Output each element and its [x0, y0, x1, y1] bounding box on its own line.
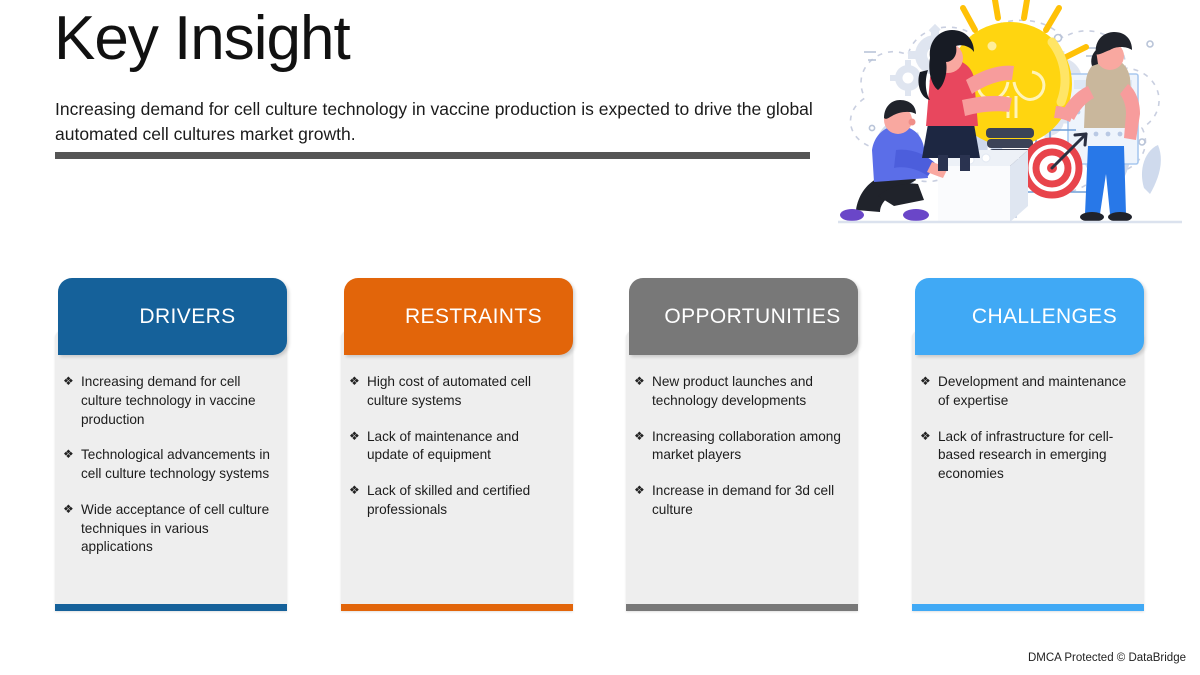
card-list-challenges: ❖Development and maintenance of expertis…	[912, 373, 1144, 501]
card-restraints[interactable]: RESTRAINTS ❖High cost of automated cell …	[341, 278, 573, 611]
card-accent-bar-drivers	[55, 604, 287, 611]
diamond-bullet-icon: ❖	[634, 373, 645, 390]
diamond-bullet-icon: ❖	[63, 373, 74, 390]
list-item: ❖Lack of skilled and certified professio…	[349, 482, 563, 520]
list-item-text: Lack of skilled and certified profession…	[367, 483, 530, 517]
list-item-text: Wide acceptance of cell culture techniqu…	[81, 502, 269, 555]
card-list-restraints: ❖High cost of automated cell culture sys…	[341, 373, 573, 537]
list-item: ❖Wide acceptance of cell culture techniq…	[63, 501, 277, 557]
page-subtitle: Increasing demand for cell culture techn…	[55, 97, 830, 147]
diamond-bullet-icon: ❖	[634, 482, 645, 499]
diamond-bullet-icon: ❖	[349, 373, 360, 390]
list-item: ❖Technological advancements in cell cult…	[63, 446, 277, 484]
card-title-opportunities: OPPORTUNITIES	[646, 305, 840, 329]
card-header-restraints[interactable]: RESTRAINTS	[344, 278, 573, 355]
diamond-bullet-icon: ❖	[920, 373, 931, 390]
page-title: Key Insight	[54, 8, 350, 70]
card-title-restraints: RESTRAINTS	[375, 305, 542, 329]
diamond-bullet-icon: ❖	[920, 428, 931, 445]
card-drivers[interactable]: DRIVERS ❖Increasing demand for cell cult…	[55, 278, 287, 611]
list-item: ❖Increasing collaboration among market p…	[634, 428, 848, 466]
list-item: ❖New product launches and technology dev…	[634, 373, 848, 411]
list-item-text: Development and maintenance of expertise	[938, 374, 1126, 408]
list-item: ❖Development and maintenance of expertis…	[920, 373, 1134, 411]
teamwork-idea-lightbulb-illustration	[820, 0, 1200, 238]
footer-copyright: DMCA Protected © DataBridge	[1028, 652, 1186, 664]
diamond-bullet-icon: ❖	[634, 428, 645, 445]
card-accent-bar-restraints	[341, 604, 573, 611]
list-item: ❖Lack of maintenance and update of equip…	[349, 428, 563, 466]
list-item-text: New product launches and technology deve…	[652, 374, 813, 408]
card-list-drivers: ❖Increasing demand for cell culture tech…	[55, 373, 287, 574]
diamond-bullet-icon: ❖	[349, 428, 360, 445]
diamond-bullet-icon: ❖	[63, 501, 74, 518]
card-header-opportunities[interactable]: OPPORTUNITIES	[629, 278, 858, 355]
card-challenges[interactable]: CHALLENGES ❖Development and maintenance …	[912, 278, 1144, 611]
card-title-drivers: DRIVERS	[109, 305, 235, 329]
list-item-text: Lack of infrastructure for cell-based re…	[938, 429, 1113, 482]
list-item-text: Increasing collaboration among market pl…	[652, 429, 841, 463]
card-header-drivers[interactable]: DRIVERS	[58, 278, 287, 355]
diamond-bullet-icon: ❖	[349, 482, 360, 499]
list-item-text: Increase in demand for 3d cell culture	[652, 483, 834, 517]
list-item: ❖Increase in demand for 3d cell culture	[634, 482, 848, 520]
slide-root: Key Insight Increasing demand for cell c…	[0, 0, 1200, 675]
card-accent-bar-challenges	[912, 604, 1144, 611]
diamond-bullet-icon: ❖	[63, 446, 74, 463]
list-item: ❖Increasing demand for cell culture tech…	[63, 373, 277, 429]
list-item: ❖High cost of automated cell culture sys…	[349, 373, 563, 411]
card-header-challenges[interactable]: CHALLENGES	[915, 278, 1144, 355]
list-item: ❖Lack of infrastructure for cell-based r…	[920, 428, 1134, 484]
list-item-text: High cost of automated cell culture syst…	[367, 374, 531, 408]
list-item-text: Lack of maintenance and update of equipm…	[367, 429, 519, 463]
card-opportunities[interactable]: OPPORTUNITIES ❖New product launches and …	[626, 278, 858, 611]
swot-cards-row: DRIVERS ❖Increasing demand for cell cult…	[0, 278, 1200, 613]
list-item-text: Technological advancements in cell cultu…	[81, 447, 270, 481]
title-divider	[55, 152, 810, 159]
card-list-opportunities: ❖New product launches and technology dev…	[626, 373, 858, 537]
card-title-challenges: CHALLENGES	[942, 305, 1117, 329]
card-accent-bar-opportunities	[626, 604, 858, 611]
list-item-text: Increasing demand for cell culture techn…	[81, 374, 256, 427]
